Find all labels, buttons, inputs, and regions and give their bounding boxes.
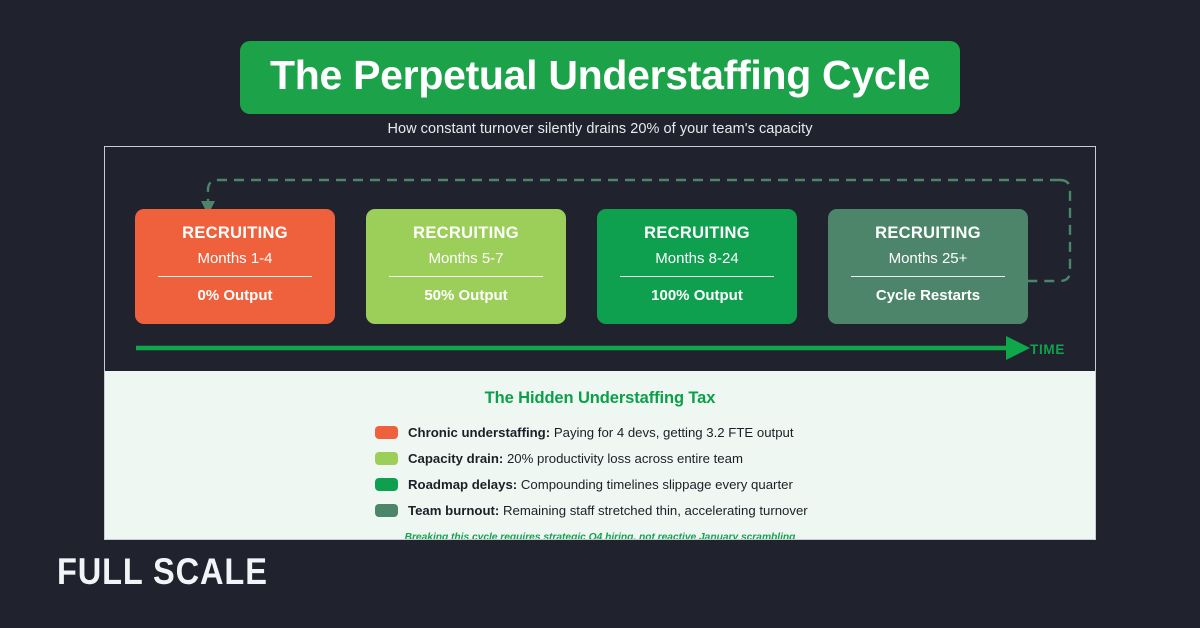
stage-divider <box>620 276 774 277</box>
diagram-panel: RECRUITING Months 1-4 0% Output RECRUITI… <box>104 146 1096 540</box>
stage-cards: RECRUITING Months 1-4 0% Output RECRUITI… <box>105 209 1096 324</box>
page-subtitle: How constant turnover silently drains 20… <box>0 121 1200 137</box>
legend-item-label: Chronic understaffing: <box>408 425 550 440</box>
stage-card[interactable]: RECRUITING Months 1-4 0% Output <box>135 209 335 324</box>
stage-period: Months 5-7 <box>366 251 566 266</box>
stage-card[interactable]: RECRUITING Months 5-7 50% Output <box>366 209 566 324</box>
legend-item: Roadmap delays: Compounding timelines sl… <box>375 472 1095 496</box>
stage-title: RECRUITING <box>597 225 797 242</box>
legend-item-label: Roadmap delays: <box>408 477 517 492</box>
legend-title: The Hidden Understaffing Tax <box>105 371 1095 408</box>
legend-panel: The Hidden Understaffing Tax Chronic und… <box>105 371 1095 539</box>
legend-note: Breaking this cycle requires strategic Q… <box>105 532 1095 540</box>
stage-divider <box>158 276 312 277</box>
stage-title: RECRUITING <box>828 225 1028 242</box>
brand-logo: FULL SCALE <box>57 551 268 593</box>
stage-output: 100% Output <box>597 288 797 303</box>
legend-list: Chronic understaffing: Paying for 4 devs… <box>105 420 1095 522</box>
title-banner-wrap: The Perpetual Understaffing Cycle <box>0 41 1200 114</box>
stage-card[interactable]: RECRUITING Months 8-24 100% Output <box>597 209 797 324</box>
legend-swatch-icon <box>375 478 398 491</box>
timeline-axis: TIME <box>105 333 1096 371</box>
stage-divider <box>389 276 543 277</box>
legend-swatch-icon <box>375 452 398 465</box>
stage-output: 50% Output <box>366 288 566 303</box>
legend-swatch-icon <box>375 426 398 439</box>
stage-title: RECRUITING <box>366 225 566 242</box>
timeline-label: TIME <box>1030 342 1065 357</box>
legend-item-label: Capacity drain: <box>408 451 503 466</box>
stage-divider <box>851 276 1005 277</box>
legend-item-description: Paying for 4 devs, getting 3.2 FTE outpu… <box>554 425 794 440</box>
page-title: The Perpetual Understaffing Cycle <box>240 41 960 114</box>
timeline-arrow-icon <box>105 333 1096 371</box>
legend-item-description: Remaining staff stretched thin, accelera… <box>503 503 808 518</box>
legend-item-description: Compounding timelines slippage every qua… <box>521 477 793 492</box>
legend-swatch-icon <box>375 504 398 517</box>
stage-period: Months 8-24 <box>597 251 797 266</box>
stage-output: Cycle Restarts <box>828 288 1028 303</box>
stage-card[interactable]: RECRUITING Months 25+ Cycle Restarts <box>828 209 1028 324</box>
legend-item: Team burnout: Remaining staff stretched … <box>375 498 1095 522</box>
stage-period: Months 1-4 <box>135 251 335 266</box>
stage-output: 0% Output <box>135 288 335 303</box>
legend-item-description: 20% productivity loss across entire team <box>507 451 743 466</box>
legend-item: Chronic understaffing: Paying for 4 devs… <box>375 420 1095 444</box>
stage-period: Months 25+ <box>828 251 1028 266</box>
stage-title: RECRUITING <box>135 225 335 242</box>
legend-item-label: Team burnout: <box>408 503 499 518</box>
legend-item: Capacity drain: 20% productivity loss ac… <box>375 446 1095 470</box>
